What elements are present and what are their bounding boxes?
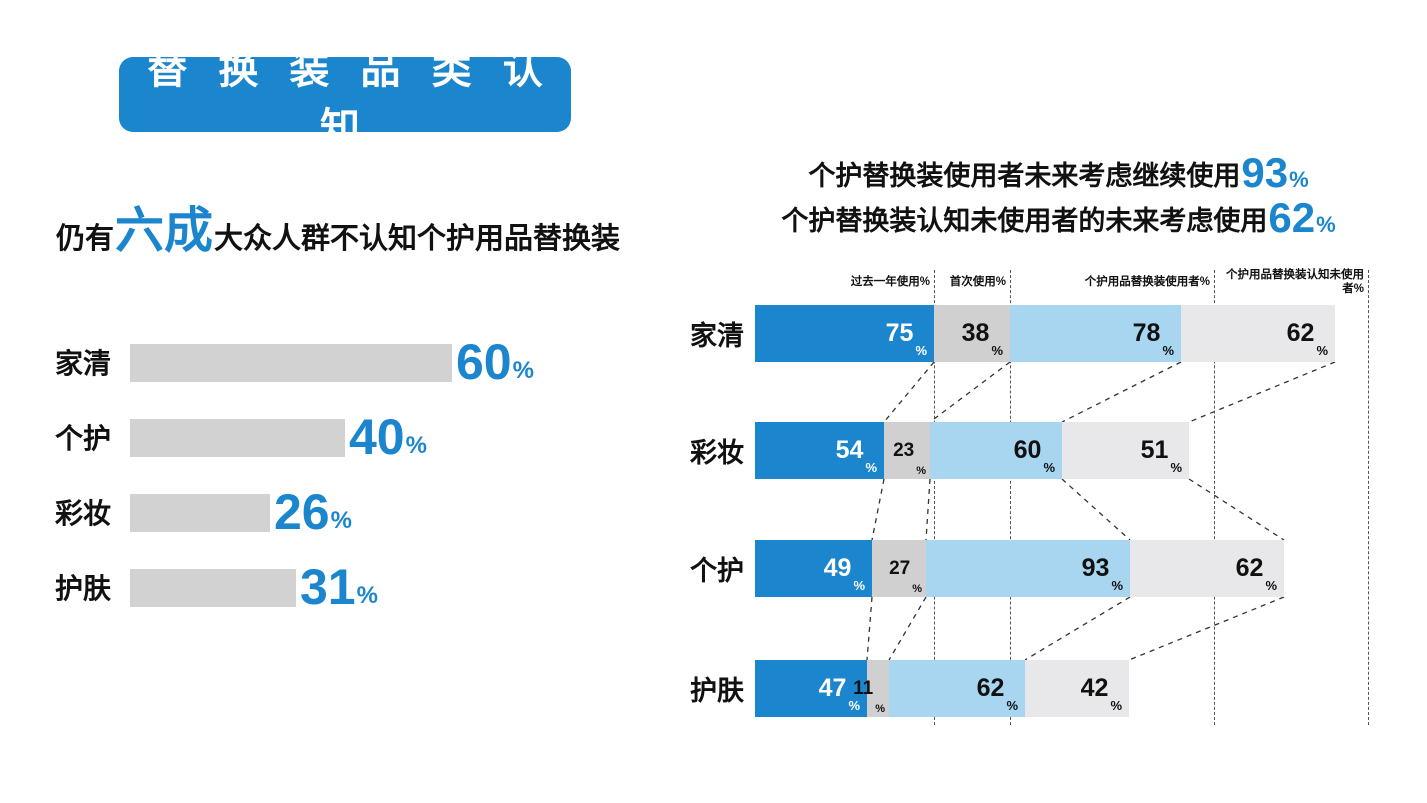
stacked-bar-label: 家清 [690,305,752,362]
stacked-bar-row: 个护49%27%93%62% [690,540,1427,597]
stacked-bar-segment: 23% [884,422,930,479]
segment-value: 47 [819,676,847,701]
left-bar-value-percent: % [406,434,427,458]
segment-value: 51 [1141,438,1169,463]
segment-percent: % [912,583,922,595]
segment-value: 62 [1236,556,1264,581]
right-headline-value: 93 [1241,152,1288,194]
stacked-bar-segment: 60% [930,422,1062,479]
stacked-bar-segment: 42% [1025,660,1129,717]
stacked-bar-segment: 62% [1181,305,1335,362]
segment-percent: % [1006,698,1018,713]
column-header: 首次使用% [934,275,1006,289]
column-header: 个护用品替换装使用者% [1010,275,1210,289]
left-headline-highlight: 六成 [115,209,213,254]
left-bar-label: 个护 [55,407,125,467]
left-bar-value: 26% [274,482,352,542]
segment-value: 38 [962,321,990,346]
segment-value: 78 [1133,321,1161,346]
stacked-bar-label: 个护 [690,540,752,597]
segment-percent: % [1162,343,1174,358]
left-headline-prefix: 仍有 [56,224,114,254]
left-headline: 仍有 六成 大众人群不认知个护用品替换装 [56,196,656,254]
stacked-bar-segment: 75% [755,305,934,362]
segment-value: 54 [836,438,864,463]
left-bar-fill [130,344,452,382]
segment-value: 75 [886,321,914,346]
left-bar-value: 31% [300,557,378,617]
segment-percent: % [865,460,877,475]
stacked-bar-segment: 62% [1130,540,1284,597]
left-panel: 替 换 装 品 类 认 知 仍有 六成 大众人群不认知个护用品替换装 家清60%… [0,0,700,803]
left-bar-value-percent: % [513,359,534,383]
left-bar-fill [130,569,296,607]
column-header: 个护用品替换装认知未使用者% [1214,268,1364,297]
right-headline-percent: % [1289,169,1309,191]
left-bar-label: 家清 [55,332,125,392]
segment-percent: % [848,698,860,713]
segment-value: 23 [893,441,914,460]
stacked-bar-segment: 62% [889,660,1025,717]
right-headline-line: 个护替换装使用者未来考虑继续使用93% [690,152,1427,194]
stacked-bar-segment: 78% [1010,305,1181,362]
stacked-bar-row: 彩妆54%23%60%51% [690,422,1427,479]
left-bar-value-number: 26 [274,487,330,537]
right-headline: 个护替换装使用者未来考虑继续使用93%个护替换装认知未使用者的未来考虑使用62% [690,152,1427,242]
segment-value: 42 [1081,676,1109,701]
segment-value: 62 [977,676,1005,701]
left-bar-fill [130,494,270,532]
right-headline-line: 个护替换装认知未使用者的未来考虑使用62% [690,197,1427,239]
segment-percent: % [916,465,926,477]
left-bar-value-number: 60 [456,337,512,387]
segment-value: 60 [1014,438,1042,463]
left-bar-row: 彩妆26% [0,482,660,542]
stacked-bar-segment: 51% [1062,422,1189,479]
segment-percent: % [1110,698,1122,713]
right-headline-text: 个护替换装使用者未来考虑继续使用 [808,160,1240,194]
left-bar-row: 护肤31% [0,557,660,617]
left-bar-chart: 家清60%个护40%彩妆26%护肤31% [0,332,660,632]
segment-percent: % [915,343,927,358]
left-headline-suffix: 大众人群不认知个护用品替换装 [214,224,620,254]
segment-percent: % [1043,460,1055,475]
left-bar-value: 40% [349,407,427,467]
left-bar-value: 60% [456,332,534,392]
segment-percent: % [1316,343,1328,358]
segment-percent: % [1265,578,1277,593]
right-headline-text: 个护替换装认知未使用者的未来考虑使用 [781,205,1267,239]
stacked-bar-segment: 27% [872,540,926,597]
column-header: 过去一年使用% [755,275,930,289]
left-bar-fill [130,419,345,457]
left-bar-value-number: 31 [300,562,356,612]
stacked-bar-row: 家清75%38%78%62% [690,305,1427,362]
segment-value: 11 [853,679,873,698]
right-stacked-chart: 过去一年使用%首次使用%个护用品替换装使用者%个护用品替换装认知未使用者%家清7… [690,260,1427,730]
left-panel-title: 替 换 装 品 类 认 知 [119,57,571,132]
segment-value: 49 [824,556,852,581]
right-headline-percent: % [1316,214,1336,236]
stacked-bar-segment: 38% [934,305,1010,362]
left-bar-value-percent: % [357,584,378,608]
left-bar-label: 护肤 [55,557,125,617]
segment-percent: % [1170,460,1182,475]
stacked-bar-segment: 49% [755,540,872,597]
segment-value: 27 [889,559,910,578]
right-headline-value: 62 [1268,197,1315,239]
left-bar-value-number: 40 [349,412,405,462]
segment-percent: % [853,578,865,593]
stacked-bar-segment: 11% [867,660,889,717]
left-bar-label: 彩妆 [55,482,125,542]
stacked-bar-segment: 54% [755,422,884,479]
segment-percent: % [875,703,885,715]
stacked-bar-segment: 93% [926,540,1130,597]
segment-percent: % [1111,578,1123,593]
stacked-bar-label: 护肤 [690,660,752,717]
left-bar-row: 个护40% [0,407,660,467]
left-bar-value-percent: % [331,509,352,533]
stacked-bar-label: 彩妆 [690,422,752,479]
segment-value: 62 [1287,321,1315,346]
segment-value: 93 [1082,556,1110,581]
stacked-bar-row: 护肤47%11%62%42% [690,660,1427,717]
left-bar-row: 家清60% [0,332,660,392]
stacked-bar-segment: 47% [755,660,867,717]
segment-percent: % [991,343,1003,358]
